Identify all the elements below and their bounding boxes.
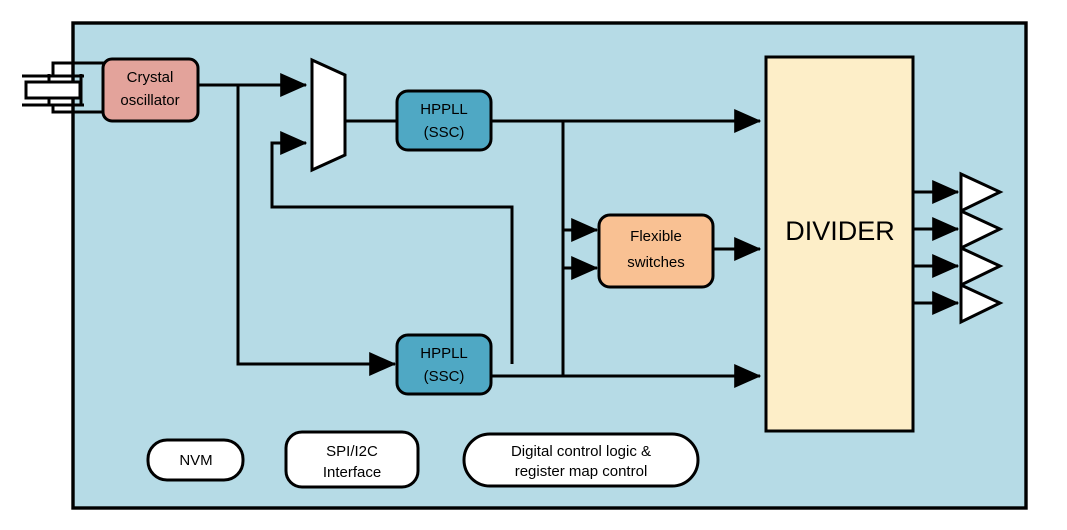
divider-label: DIVIDER: [785, 216, 895, 246]
crystal-oscillator-label-line2: oscillator: [120, 92, 179, 109]
digital-control-label-line2: register map control: [515, 463, 648, 480]
multiplexer-symbol[interactable]: [312, 60, 345, 170]
hppll-top-label-line1: HPPLL: [420, 101, 468, 118]
digital-control-label-line1: Digital control logic &: [511, 443, 651, 460]
divider-block[interactable]: DIVIDER: [766, 57, 913, 431]
hppll-top-block[interactable]: HPPLL (SSC): [397, 91, 491, 150]
spi-i2c-interface-block[interactable]: SPI/I2C Interface: [286, 432, 418, 487]
flexible-switches-block[interactable]: Flexible switches: [599, 215, 713, 287]
nvm-block[interactable]: NVM: [148, 440, 243, 480]
flexible-switches-label-line1: Flexible: [630, 228, 682, 245]
nvm-label: NVM: [179, 452, 212, 469]
flexible-switches-label-line2: switches: [627, 254, 685, 271]
crystal-oscillator-label-line1: Crystal: [127, 69, 174, 86]
hppll-bottom-block[interactable]: HPPLL (SSC): [397, 335, 491, 394]
hppll-bottom-label-line1: HPPLL: [420, 345, 468, 362]
spi-i2c-label-line1: SPI/I2C: [326, 443, 378, 460]
crystal-oscillator-block[interactable]: Crystal oscillator: [103, 59, 198, 121]
digital-control-logic-block[interactable]: Digital control logic & register map con…: [464, 434, 698, 486]
hppll-top-label-line2: (SSC): [424, 124, 465, 141]
clock-generator-block-diagram: Crystal oscillator HPPLL (SSC) Flexible: [0, 0, 1067, 530]
block-diagram-canvas: Crystal oscillator HPPLL (SSC) Flexible: [0, 0, 1067, 530]
hppll-bottom-label-line2: (SSC): [424, 368, 465, 385]
spi-i2c-label-line2: Interface: [323, 464, 381, 481]
